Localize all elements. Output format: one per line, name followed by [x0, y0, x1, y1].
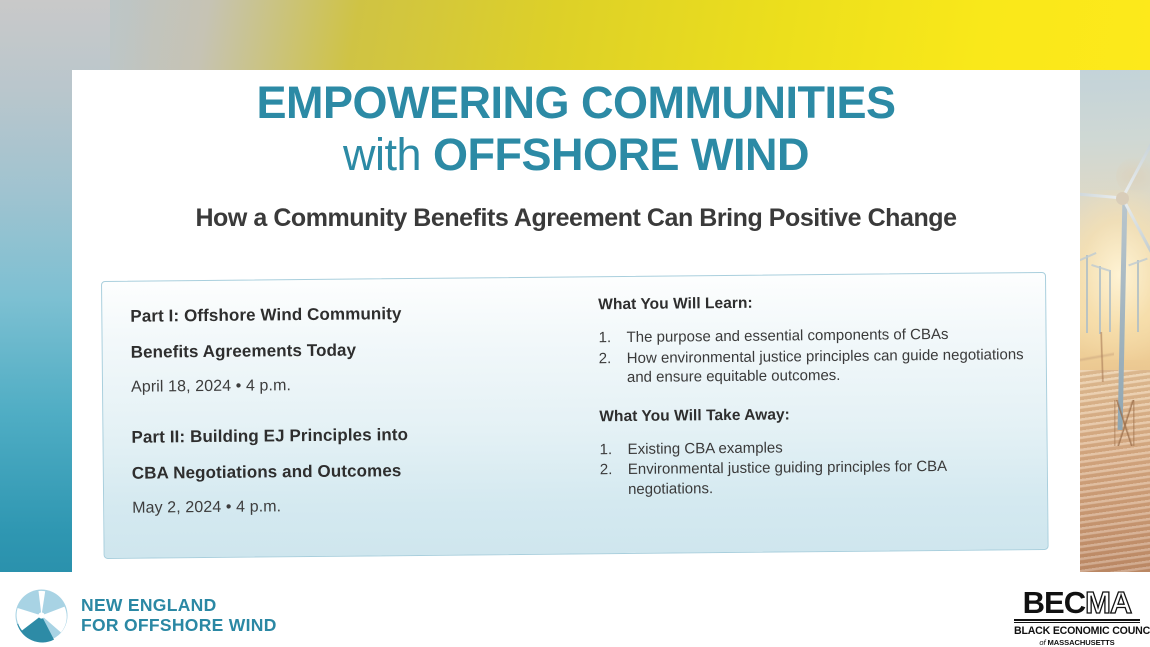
session-title-line-2: CBA Negotiations and Outcomes — [132, 460, 573, 481]
headline-block: EMPOWERING COMMUNITIES with OFFSHORE WIN… — [72, 78, 1080, 233]
title-line-1: EMPOWERING COMMUNITIES — [72, 78, 1080, 128]
list-item-number: 2. — [599, 348, 627, 387]
list-item: 2. Environmental justice guiding princip… — [600, 456, 1030, 499]
what-you-will-learn-heading: What You Will Learn: — [598, 292, 1028, 314]
becma-subtitle: BLACK ECONOMIC COUNCIL — [1014, 625, 1140, 637]
becma-tagline: of MASSACHUSETTS — [1014, 638, 1140, 647]
session-title-line-1: Part II: Building EJ Principles into — [131, 425, 408, 447]
becma-wordmark-solid: BEC — [1023, 587, 1085, 618]
session-datetime: April 18, 2024 • 4 p.m. — [131, 374, 572, 396]
what-you-will-take-away-heading: What You Will Take Away: — [599, 404, 1029, 426]
becma-wordmark-outline: MA — [1085, 587, 1131, 618]
info-panel: Part I: Offshore Wind Community Benefits… — [101, 272, 1049, 559]
becma-tagline-of: of — [1039, 638, 1047, 647]
distant-turbine-tower — [1099, 266, 1101, 334]
list-item-number: 1. — [598, 328, 626, 348]
list-item-number: 2. — [600, 460, 628, 499]
logo-line-2: FOR OFFSHORE WIND — [81, 615, 277, 635]
top-gradient-band — [0, 0, 1150, 71]
session-title-line-2: Benefits Agreements Today — [131, 339, 572, 360]
wind-turbine-icon-svg — [14, 588, 69, 643]
distant-turbine-tower — [1086, 255, 1088, 333]
list-item-number: 1. — [600, 439, 628, 459]
session-title: Part II: Building EJ Principles into CBA… — [131, 424, 572, 481]
session-item-1: Part I: Offshore Wind Community Benefits… — [130, 303, 572, 396]
what-you-will-learn-list: 1. The purpose and essential components … — [598, 324, 1029, 388]
what-you-will-take-away-list: 1. Existing CBA examples 2. Environmenta… — [600, 436, 1031, 500]
list-item-text: How environmental justice principles can… — [627, 345, 1029, 388]
list-item-text: Environmental justice guiding principles… — [628, 456, 1030, 499]
list-item-text: The purpose and essential components of … — [626, 324, 1028, 347]
page-subtitle: How a Community Benefits Agreement Can B… — [72, 204, 1080, 233]
becma-wordmark: BEC MA — [1014, 586, 1140, 618]
session-title-line-1: Part I: Offshore Wind Community — [130, 304, 401, 326]
slide-canvas: EMPOWERING COMMUNITIES with OFFSHORE WIN… — [0, 0, 1150, 647]
outcomes-column: What You Will Learn: 1. The purpose and … — [571, 272, 1049, 555]
offshore-wind-photo — [1080, 70, 1150, 572]
title-line-2: with OFFSHORE WIND — [72, 130, 1080, 180]
turbine-hub — [1116, 192, 1129, 205]
turbine-jacket-foundation — [1108, 400, 1142, 446]
wind-turbine-circle-icon — [14, 588, 69, 643]
session-title: Part I: Offshore Wind Community Benefits… — [130, 303, 571, 360]
pier-walkway — [1080, 332, 1114, 382]
list-item: 1. The purpose and essential components … — [598, 324, 1028, 348]
list-item: 1. Existing CBA examples — [600, 436, 1030, 460]
distant-turbine-tower — [1137, 260, 1139, 332]
title-line-2-bold: OFFSHORE WIND — [433, 129, 809, 180]
becma-tagline-state: MASSACHUSETTS — [1048, 638, 1115, 647]
new-england-offshore-wind-logo: NEW ENGLAND FOR OFFSHORE WIND — [14, 587, 304, 643]
title-line-2-light: with — [343, 129, 433, 180]
list-item-text: Existing CBA examples — [628, 436, 1030, 459]
becma-logo: BEC MA BLACK ECONOMIC COUNCIL of MASSACH… — [1014, 586, 1140, 647]
distant-turbine-tower — [1109, 270, 1111, 332]
sessions-column: Part I: Offshore Wind Community Benefits… — [101, 276, 574, 558]
new-england-logo-wordmark: NEW ENGLAND FOR OFFSHORE WIND — [81, 595, 277, 636]
session-item-2: Part II: Building EJ Principles into CBA… — [131, 424, 573, 517]
list-item: 2. How environmental justice principles … — [599, 345, 1029, 388]
session-datetime: May 2, 2024 • 4 p.m. — [132, 495, 573, 517]
logo-line-1: NEW ENGLAND — [81, 595, 277, 615]
